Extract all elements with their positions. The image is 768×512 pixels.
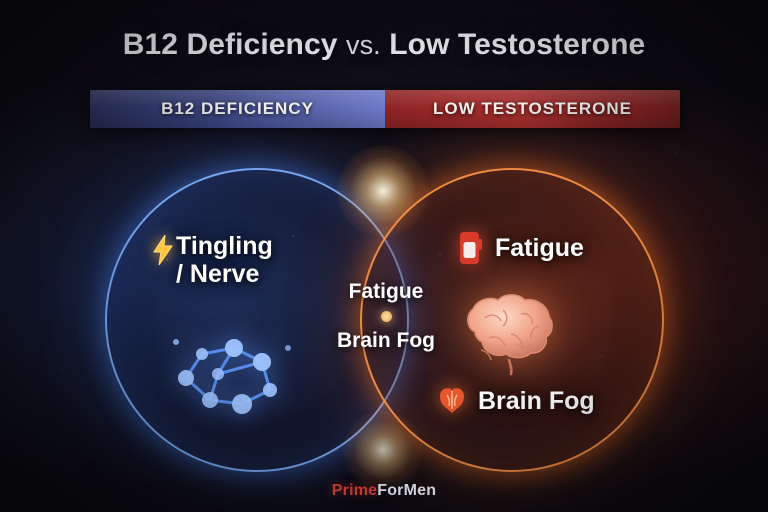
brand-secondary: ForMen: [377, 482, 436, 499]
overlap-item-brain-fog: Brain Fog: [334, 329, 438, 353]
overlap-item-fatigue: Fatigue: [334, 280, 438, 304]
label-tingling-text: Tingling / Nerve: [176, 232, 273, 288]
banner-label-low-t: LOW TESTOSTERONE: [433, 99, 632, 119]
label-brain-fog-low-t: Brain Fog: [437, 386, 595, 416]
tingling-line2: / Nerve: [176, 260, 259, 288]
comparison-banner: B12 DEFICIENCY LOW TESTOSTERONE: [90, 90, 680, 128]
banner-label-b12: B12 DEFICIENCY: [161, 99, 314, 119]
page-title: B12 Deficiency vs. Low Testosterone: [0, 28, 768, 62]
title-vs: vs.: [346, 30, 381, 60]
brand-primary: Prime: [332, 482, 377, 499]
label-brain-fog-text: Brain Fog: [478, 387, 595, 415]
banner-segment-low-t[interactable]: LOW TESTOSTERONE: [385, 90, 680, 128]
banner-segment-b12[interactable]: B12 DEFICIENCY: [90, 90, 385, 128]
infographic-canvas: B12 Deficiency vs. Low Testosterone B12 …: [0, 0, 768, 512]
molecule-structure-icon: [158, 318, 304, 422]
title-part-before: B12 Deficiency: [123, 28, 346, 61]
lightning-bolt-icon: [152, 235, 174, 265]
title-part-after: Low Testosterone: [381, 28, 646, 61]
label-fatigue-text: Fatigue: [495, 234, 584, 262]
brain-icon: [437, 386, 467, 416]
overlap-separator-dot-icon: [381, 311, 392, 322]
tingling-line1: Tingling: [176, 232, 273, 260]
brain-illustration-icon: [455, 288, 565, 376]
label-fatigue-low-t: Fatigue: [458, 230, 584, 266]
label-tingling-nerve: Tingling / Nerve: [152, 232, 273, 288]
battery-icon: [458, 230, 484, 266]
venn-overlap-group: Fatigue Brain Fog: [334, 280, 438, 353]
footer-brand-logo[interactable]: PrimeForMen: [0, 482, 768, 500]
